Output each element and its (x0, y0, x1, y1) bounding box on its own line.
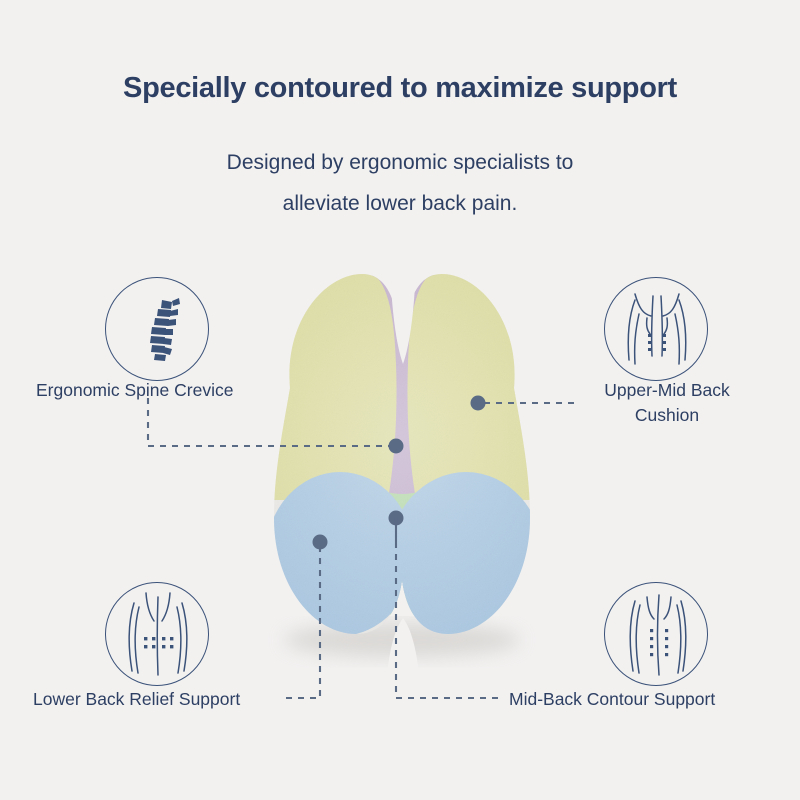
pressure-dots (650, 629, 668, 656)
scapula-left-line (647, 318, 650, 334)
flank-right-line (677, 605, 681, 673)
pressure-dots (144, 637, 173, 648)
spine-icon (105, 277, 209, 381)
label-line-2: Cushion (635, 405, 699, 425)
flank-right-line (177, 607, 181, 673)
shoulder-left-line (647, 597, 654, 619)
page-subtitle: Designed by ergonomic specialists to all… (0, 142, 800, 224)
torso-right-outline (681, 601, 686, 671)
flank-left-line (636, 605, 640, 673)
infographic-stage: Specially contoured to maximize support … (0, 0, 800, 800)
torso-left-outline (630, 601, 635, 671)
feature-label-mid-back-contour-support: Mid-Back Contour Support (509, 687, 715, 712)
lower-back-icon (105, 582, 209, 686)
subtitle-line-2: alleviate lower back pain. (0, 183, 800, 224)
flank-left-line (135, 607, 139, 673)
spine-center-line (652, 296, 653, 356)
waist-left-line (146, 593, 154, 621)
upper-back-icon (604, 277, 708, 381)
torso-left-outline (129, 603, 134, 671)
product-cushion-image (222, 268, 582, 688)
torso-right-outline (182, 603, 187, 671)
subtitle-line-1: Designed by ergonomic specialists to (0, 142, 800, 183)
flank-right-line (675, 314, 679, 364)
feature-label-upper-mid-back-cushion: Upper-Mid Back Cushion (576, 378, 758, 428)
pressure-dots (648, 334, 666, 351)
feature-label-lower-back-relief-support: Lower Back Relief Support (33, 687, 240, 712)
shoulder-right-line (663, 294, 679, 316)
flank-left-line (635, 314, 639, 364)
shoulder-right-line (664, 597, 671, 619)
feature-label-ergonomic-spine-crevice: Ergonomic Spine Crevice (36, 378, 233, 403)
spine-center-line (658, 595, 660, 675)
label-line-1: Upper-Mid Back (604, 380, 729, 400)
scapula-right-line (664, 318, 667, 334)
waist-right-line (162, 593, 170, 621)
spine-center-line-2 (661, 296, 662, 356)
spine-center-line (157, 597, 158, 675)
mid-back-icon (604, 582, 708, 686)
shoulder-left-line (635, 294, 651, 316)
page-title: Specially contoured to maximize support (0, 72, 800, 105)
